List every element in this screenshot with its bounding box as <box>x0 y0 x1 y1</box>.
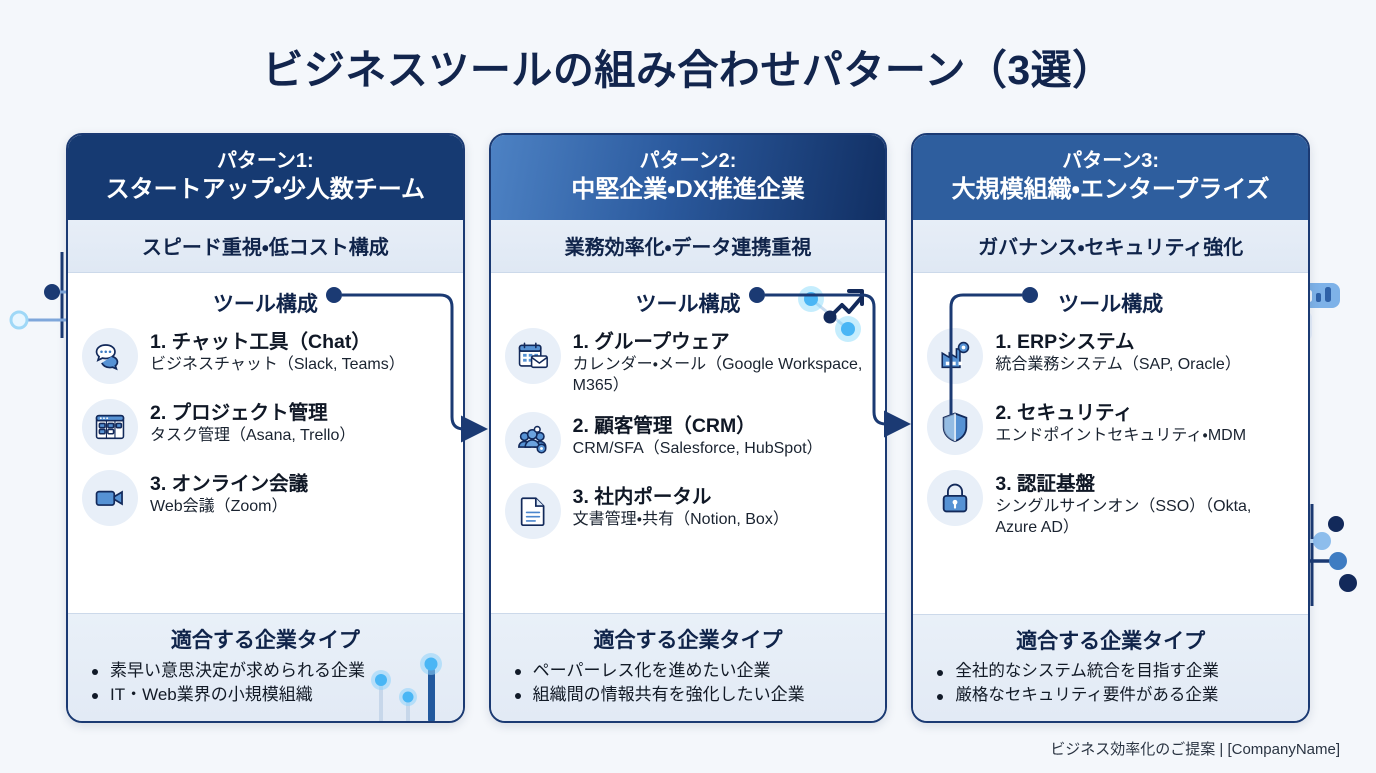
card-3-subtitle: ガバナンス・セキュリティ強化 <box>913 220 1308 273</box>
tool-desc: 文書管理・共有（Notion, Box） <box>573 510 789 531</box>
card-2-subtitle: 業務効率化・データ連携重視 <box>491 220 886 273</box>
card-1-tools-heading: ツール構成 <box>82 288 449 318</box>
card-3-footer-list: 全社的なシステム統合を目指す企業 厳格なセキュリティ要件がある企業 <box>929 660 1292 708</box>
card-2-body: ツール構成 <box>491 273 886 613</box>
factory-gear-icon <box>927 328 983 384</box>
tool-name: 1. チャット工具（Chat） <box>150 330 405 354</box>
lock-icon <box>927 470 983 526</box>
list-item: 素早い意思決定が求められる企業 <box>84 659 447 684</box>
card-2-footer-list: ペーパーレス化を進めたい企業 組織間の情報共有を強化したい企業 <box>507 659 870 708</box>
tool-item[interactable]: 1. グループウェア カレンダー・メール（Google Workspace, M… <box>505 328 872 397</box>
card-1-header: パターン1: スタートアップ・少人数チーム <box>68 135 463 220</box>
list-item: 組織間の情報共有を強化したい企業 <box>507 683 870 708</box>
tool-name: 3. オンライン会議 <box>150 472 308 496</box>
pattern-card-3[interactable]: パターン3: 大規模組織・エンタープライズ ガバナンス・セキュリティ強化 ツール… <box>911 133 1310 723</box>
slide-footer-caption: ビジネス効率化のご提案 | [CompanyName] <box>1050 738 1340 759</box>
tool-desc: ビジネスチャット（Slack, Teams） <box>150 355 405 376</box>
pattern-card-2[interactable]: パターン2: 中堅企業・DX推進企業 業務効率化・データ連携重視 ツール構成 <box>489 133 888 723</box>
chat-bubbles-icon <box>82 328 138 384</box>
list-item: 全社的なシステム統合を目指す企業 <box>929 660 1292 684</box>
card-3-pattern-name: 大規模組織・エンタープライズ <box>923 174 1298 206</box>
video-camera-icon <box>82 470 138 526</box>
card-1-subtitle: スピード重視・低コスト構成 <box>68 220 463 273</box>
card-2-footer: 適合する企業タイプ ペーパーレス化を進めたい企業 組織間の情報共有を強化したい企… <box>491 613 886 721</box>
tool-name: 1. ERPシステム <box>995 330 1241 354</box>
tool-name: 2. セキュリティ <box>995 401 1246 425</box>
card-2-header: パターン2: 中堅企業・DX推進企業 <box>491 135 886 220</box>
card-2-tools-heading: ツール構成 <box>505 288 872 318</box>
tool-item[interactable]: 2. 顧客管理（CRM） CRM/SFA（Salesforce, HubSpot… <box>505 412 872 468</box>
card-3-tools-heading: ツール構成 <box>927 288 1294 318</box>
tool-item[interactable]: 3. 認証基盤 シングルサインオン（SSO）（Okta, Azure AD） <box>927 470 1294 539</box>
card-3-footer-title: 適合する企業タイプ <box>929 625 1292 655</box>
tool-desc: カレンダー・メール（Google Workspace, M365） <box>573 355 872 397</box>
document-icon <box>505 483 561 539</box>
tool-desc: Web会議（Zoom） <box>150 497 308 518</box>
card-1-body: ツール構成 1. チャット工具（Chat） ビジネ <box>68 273 463 613</box>
people-gear-icon <box>505 412 561 468</box>
tool-name: 1. グループウェア <box>573 330 872 354</box>
tool-item[interactable]: 1. ERPシステム 統合業務システム（SAP, Oracle） <box>927 328 1294 384</box>
list-item: ペーパーレス化を進めたい企業 <box>507 659 870 684</box>
tool-desc: 統合業務システム（SAP, Oracle） <box>995 355 1241 376</box>
tool-name: 3. 認証基盤 <box>995 472 1294 496</box>
card-3-footer: 適合する企業タイプ 全社的なシステム統合を目指す企業 厳格なセキュリティ要件があ… <box>913 614 1308 721</box>
card-1-footer-list: 素早い意思決定が求められる企業 IT・Web業界の小規模組織 <box>84 659 447 708</box>
card-1-footer: 適合する企業タイプ 素早い意思決定が求められる企業 IT・Web業界の小規模組織 <box>68 613 463 721</box>
card-1-pattern-label: パターン1: <box>78 148 453 174</box>
tool-name: 3. 社内ポータル <box>573 485 789 509</box>
tool-desc: シングルサインオン（SSO）（Okta, Azure AD） <box>995 497 1294 539</box>
card-3-header: パターン3: 大規模組織・エンタープライズ <box>913 135 1308 220</box>
tool-item[interactable]: 1. チャット工具（Chat） ビジネスチャット（Slack, Teams） <box>82 328 449 384</box>
card-1-pattern-name: スタートアップ・少人数チーム <box>78 174 453 206</box>
card-1-tool-list: 1. チャット工具（Chat） ビジネスチャット（Slack, Teams） <box>82 328 449 526</box>
card-3-tool-list: 1. ERPシステム 統合業務システム（SAP, Oracle） 2. セキュリ… <box>927 328 1294 539</box>
tool-item[interactable]: 3. 社内ポータル 文書管理・共有（Notion, Box） <box>505 483 872 539</box>
tool-item[interactable]: 2. セキュリティ エンドポイントセキュリティ・MDM <box>927 399 1294 455</box>
page-title: ビジネスツールの組み合わせパターン（3選） <box>0 36 1376 96</box>
pattern-cards-container: パターン1: スタートアップ・少人数チーム スピード重視・低コスト構成 ツール構… <box>66 133 1310 723</box>
card-1-footer-title: 適合する企業タイプ <box>84 624 447 654</box>
card-2-pattern-name: 中堅企業・DX推進企業 <box>501 174 876 206</box>
kanban-board-icon <box>82 399 138 455</box>
tool-name: 2. プロジェクト管理 <box>150 401 355 425</box>
tool-desc: CRM/SFA（Salesforce, HubSpot） <box>573 439 823 460</box>
card-3-body: ツール構成 1. ERPシステム <box>913 273 1308 614</box>
tool-item[interactable]: 3. オンライン会議 Web会議（Zoom） <box>82 470 449 526</box>
pattern-card-1[interactable]: パターン1: スタートアップ・少人数チーム スピード重視・低コスト構成 ツール構… <box>66 133 465 723</box>
shield-icon <box>927 399 983 455</box>
calendar-mail-icon <box>505 328 561 384</box>
card-2-footer-title: 適合する企業タイプ <box>507 624 870 654</box>
tool-desc: エンドポイントセキュリティ・MDM <box>995 426 1246 447</box>
list-item: IT・Web業界の小規模組織 <box>84 683 447 708</box>
card-2-pattern-label: パターン2: <box>501 148 876 174</box>
card-3-pattern-label: パターン3: <box>923 148 1298 174</box>
tool-desc: タスク管理（Asana, Trello） <box>150 426 355 447</box>
card-2-tool-list: 1. グループウェア カレンダー・メール（Google Workspace, M… <box>505 328 872 539</box>
tool-name: 2. 顧客管理（CRM） <box>573 414 823 438</box>
tool-item[interactable]: 2. プロジェクト管理 タスク管理（Asana, Trello） <box>82 399 449 455</box>
list-item: 厳格なセキュリティ要件がある企業 <box>929 684 1292 708</box>
